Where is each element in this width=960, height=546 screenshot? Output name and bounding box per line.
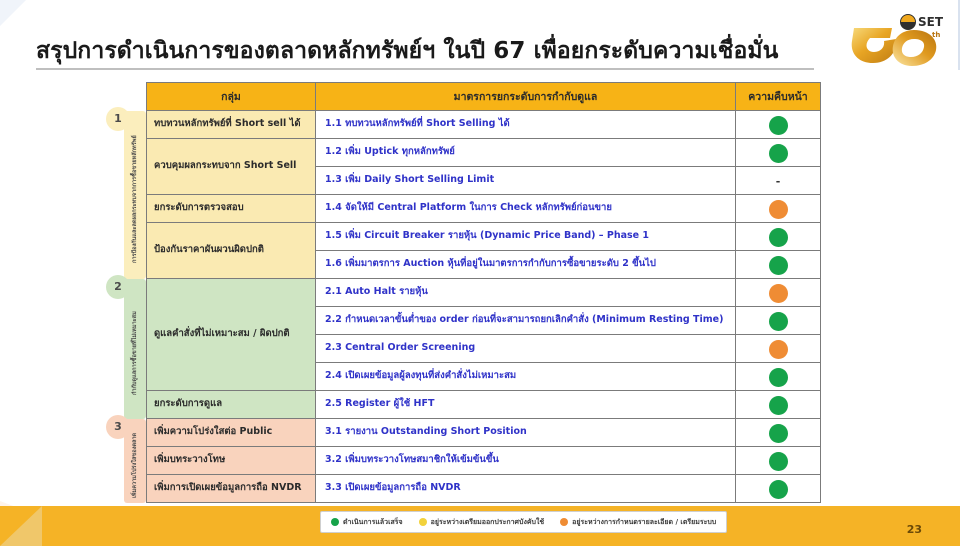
status-cell: - bbox=[736, 167, 821, 195]
measure-cell: 3.1 รายงาน Outstanding Short Position bbox=[316, 419, 736, 447]
section-rail: การป้องกันและลดผลกระทบจากการซื้อขายหลักท… bbox=[106, 82, 146, 502]
measure-cell: 1.3 เพิ่ม Daily Short Selling Limit bbox=[316, 167, 736, 195]
group-cell: เพิ่มความโปร่งใสต่อ Public bbox=[147, 419, 316, 447]
page-number: 23 bbox=[907, 523, 922, 536]
rail-number-2: 2 bbox=[106, 275, 130, 299]
status-green-icon bbox=[769, 256, 788, 275]
measure-cell: 3.2 เพิ่มบทระวางโทษสมาชิกให้เข้มข้นขึ้น bbox=[316, 447, 736, 475]
status-green-icon bbox=[769, 228, 788, 247]
group-cell: ยกระดับการตรวจสอบ bbox=[147, 195, 316, 223]
svg-text:th: th bbox=[932, 31, 940, 39]
status-orange-icon bbox=[769, 340, 788, 359]
status-cell bbox=[736, 447, 821, 475]
page-title: สรุปการดำเนินการของตลาดหลักทรัพย์ฯ ในปี … bbox=[36, 38, 826, 64]
legend-label: อยู่ระหว่างการกำหนดรายละเอียด / เตรียมระ… bbox=[572, 517, 716, 528]
status-cell bbox=[736, 223, 821, 251]
group-cell: ทบทวนหลักทรัพย์ที่ Short sell ได้ bbox=[147, 111, 316, 139]
status-cell bbox=[736, 139, 821, 167]
header-group: กลุ่ม bbox=[147, 83, 316, 111]
status-none-icon: - bbox=[776, 172, 781, 191]
status-cell bbox=[736, 363, 821, 391]
rail-number-1: 1 bbox=[106, 107, 130, 131]
group-cell: ยกระดับการดูแล bbox=[147, 391, 316, 419]
status-green-icon bbox=[769, 452, 788, 471]
table-header-row: กลุ่ม มาตรการยกระดับการกำกับดูแล ความคืบ… bbox=[147, 83, 821, 111]
legend-label: ดำเนินการแล้วเสร็จ bbox=[343, 517, 403, 528]
rail-number-3: 3 bbox=[106, 415, 130, 439]
group-cell: ป้องกันราคาผันผวนผิดปกติ bbox=[147, 223, 316, 279]
measures-table: กลุ่ม มาตรการยกระดับการกำกับดูแล ความคืบ… bbox=[146, 82, 821, 503]
table-row: ทบทวนหลักทรัพย์ที่ Short sell ได้1.1 ทบท… bbox=[147, 111, 821, 139]
measure-cell: 1.1 ทบทวนหลักทรัพย์ที่ Short Selling ได้ bbox=[316, 111, 736, 139]
svg-text:SET: SET bbox=[918, 15, 944, 29]
status-cell bbox=[736, 475, 821, 503]
rail-label-1: การป้องกันและลดผลกระทบจากการซื้อขายหลักท… bbox=[125, 123, 145, 275]
legend-item: ดำเนินการแล้วเสร็จ bbox=[331, 517, 403, 528]
measure-cell: 2.3 Central Order Screening bbox=[316, 335, 736, 363]
status-green-icon bbox=[769, 312, 788, 331]
rail-label-3: เพิ่มความโปร่งใสของตลาด bbox=[125, 431, 145, 499]
status-green-icon bbox=[769, 144, 788, 163]
set-50th-logo: SET th bbox=[846, 6, 950, 74]
legend-yellow-icon bbox=[419, 518, 427, 526]
measure-cell: 1.5 เพิ่ม Circuit Breaker รายหุ้น (Dynam… bbox=[316, 223, 736, 251]
measure-cell: 2.4 เปิดเผยข้อมูลผู้ลงทุนที่ส่งคำสั่งไม่… bbox=[316, 363, 736, 391]
legend-item: อยู่ระหว่างเตรียมออกประกาศบังคับใช้ bbox=[419, 517, 545, 528]
table-row: ควบคุมผลกระทบจาก Short Sell1.2 เพิ่ม Upt… bbox=[147, 139, 821, 167]
title-block: สรุปการดำเนินการของตลาดหลักทรัพย์ฯ ในปี … bbox=[36, 38, 826, 70]
measure-cell: 1.4 จัดให้มี Central Platform ในการ Chec… bbox=[316, 195, 736, 223]
status-green-icon bbox=[769, 368, 788, 387]
status-cell bbox=[736, 419, 821, 447]
status-cell bbox=[736, 111, 821, 139]
legend-label: อยู่ระหว่างเตรียมออกประกาศบังคับใช้ bbox=[431, 517, 545, 528]
top-left-wedge-decoration bbox=[0, 0, 26, 26]
measure-cell: 1.6 เพิ่มมาตรการ Auction หุ้นที่อยู่ในมา… bbox=[316, 251, 736, 279]
table-body: ทบทวนหลักทรัพย์ที่ Short sell ได้1.1 ทบท… bbox=[147, 111, 821, 503]
status-cell bbox=[736, 195, 821, 223]
measure-cell: 3.3 เปิดเผยข้อมูลการถือ NVDR bbox=[316, 475, 736, 503]
legend-item: อยู่ระหว่างการกำหนดรายละเอียด / เตรียมระ… bbox=[560, 517, 716, 528]
status-cell bbox=[736, 391, 821, 419]
table-row: ยกระดับการตรวจสอบ1.4 จัดให้มี Central Pl… bbox=[147, 195, 821, 223]
legend-orange-icon bbox=[560, 518, 568, 526]
group-cell: เพิ่มการเปิดเผยข้อมูลการถือ NVDR bbox=[147, 475, 316, 503]
status-orange-icon bbox=[769, 200, 788, 219]
table-row: เพิ่มบทระวางโทษ3.2 เพิ่มบทระวางโทษสมาชิก… bbox=[147, 447, 821, 475]
group-cell: ดูแลคำสั่งที่ไม่เหมาะสม / ผิดปกติ bbox=[147, 279, 316, 391]
measure-cell: 2.5 Register ผู้ใช้ HFT bbox=[316, 391, 736, 419]
status-green-icon bbox=[769, 424, 788, 443]
status-legend: ดำเนินการแล้วเสร็จอยู่ระหว่างเตรียมออกปร… bbox=[320, 511, 727, 533]
group-cell: เพิ่มบทระวางโทษ bbox=[147, 447, 316, 475]
group-cell: ควบคุมผลกระทบจาก Short Sell bbox=[147, 139, 316, 195]
status-cell bbox=[736, 335, 821, 363]
table-row: เพิ่มความโปร่งใสต่อ Public3.1 รายงาน Out… bbox=[147, 419, 821, 447]
table-row: ดูแลคำสั่งที่ไม่เหมาะสม / ผิดปกติ2.1 Aut… bbox=[147, 279, 821, 307]
rail-label-2: กำกับดูแลการซื้อขายที่ไม่เหมาะสม bbox=[125, 291, 145, 415]
measure-cell: 2.2 กำหนดเวลาขั้นต่ำของ order ก่อนที่จะส… bbox=[316, 307, 736, 335]
table-row: ยกระดับการดูแล2.5 Register ผู้ใช้ HFT bbox=[147, 391, 821, 419]
status-cell bbox=[736, 251, 821, 279]
slide-canvas: สรุปการดำเนินการของตลาดหลักทรัพย์ฯ ในปี … bbox=[0, 0, 960, 546]
bottom-bar-notch bbox=[0, 506, 42, 546]
status-orange-icon bbox=[769, 284, 788, 303]
status-green-icon bbox=[769, 116, 788, 135]
header-status: ความคืบหน้า bbox=[736, 83, 821, 111]
status-cell bbox=[736, 279, 821, 307]
header-measure: มาตรการยกระดับการกำกับดูแล bbox=[316, 83, 736, 111]
legend-green-icon bbox=[331, 518, 339, 526]
title-underline bbox=[36, 68, 814, 70]
table-row: เพิ่มการเปิดเผยข้อมูลการถือ NVDR3.3 เปิด… bbox=[147, 475, 821, 503]
table-row: ป้องกันราคาผันผวนผิดปกติ1.5 เพิ่ม Circui… bbox=[147, 223, 821, 251]
status-green-icon bbox=[769, 480, 788, 499]
status-green-icon bbox=[769, 396, 788, 415]
status-cell bbox=[736, 307, 821, 335]
measure-cell: 1.2 เพิ่ม Uptick ทุกหลักทรัพย์ bbox=[316, 139, 736, 167]
measure-cell: 2.1 Auto Halt รายหุ้น bbox=[316, 279, 736, 307]
